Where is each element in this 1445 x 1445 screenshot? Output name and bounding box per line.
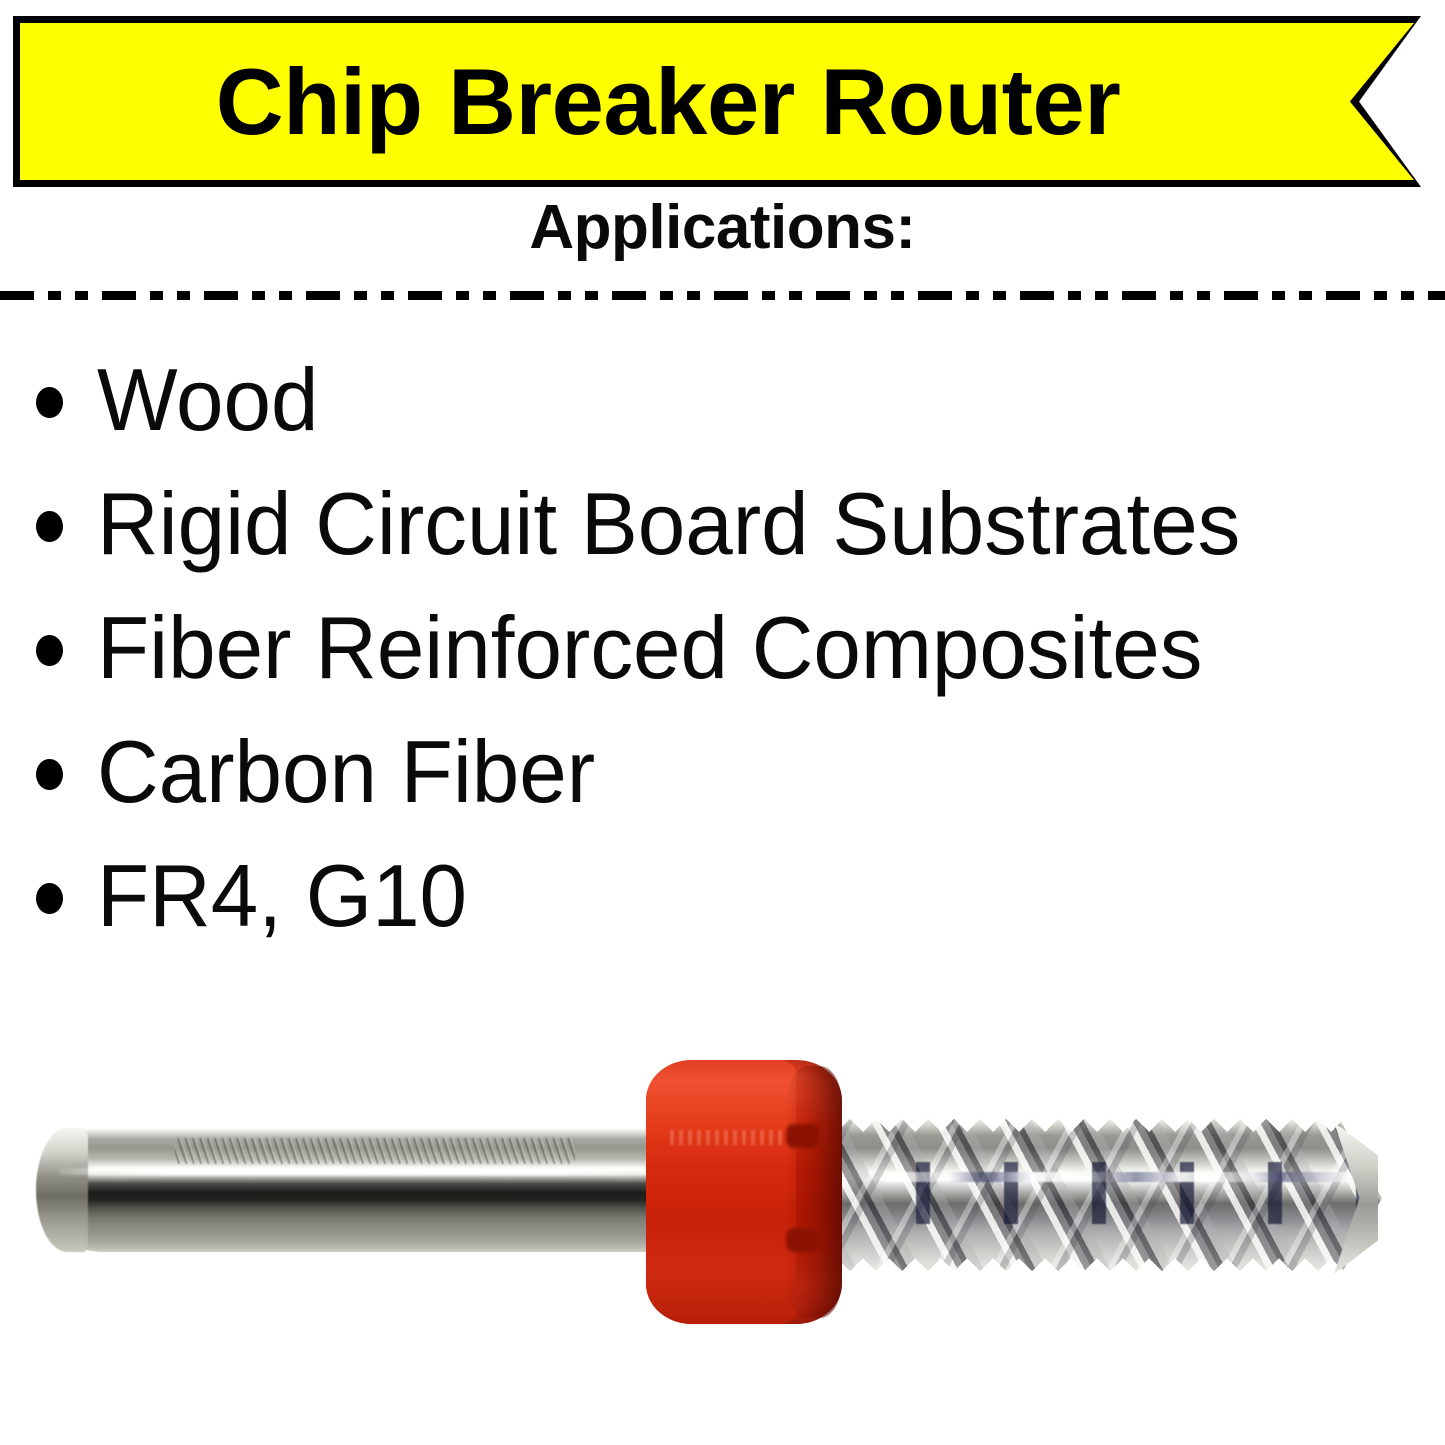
bullet-icon xyxy=(36,759,63,790)
bullet-icon xyxy=(36,387,63,418)
title-banner: Chip Breaker Router xyxy=(13,16,1421,187)
bullet-icon xyxy=(36,635,63,666)
banner-title-text: Chip Breaker Router xyxy=(13,16,1323,187)
red-collar-bore-top xyxy=(786,1124,820,1148)
bullet-icon xyxy=(36,511,63,542)
bit-cutting-head xyxy=(824,1116,1390,1278)
list-item: Fiber Reinforced Composites xyxy=(0,586,1445,710)
list-item-label: Wood xyxy=(97,356,318,444)
list-item-label: Rigid Circuit Board Substrates xyxy=(97,480,1240,568)
applications-heading: Applications: xyxy=(0,197,1445,259)
list-item-label: FR4, G10 xyxy=(97,852,467,940)
red-collar-shading xyxy=(786,1066,842,1318)
list-item: Rigid Circuit Board Substrates xyxy=(0,462,1445,586)
bit-shank-etching xyxy=(175,1138,575,1164)
flute-specular-highlight xyxy=(884,1172,1350,1182)
list-item: FR4, G10 xyxy=(0,834,1445,958)
dashed-divider xyxy=(0,291,1445,300)
red-collar-imprint xyxy=(668,1130,788,1145)
red-collar-front-face xyxy=(646,1060,796,1324)
flute-serration-top xyxy=(824,1110,1390,1132)
list-item: Wood xyxy=(0,338,1445,462)
list-item-label: Fiber Reinforced Composites xyxy=(97,604,1202,692)
list-item-label: Carbon Fiber xyxy=(97,728,595,816)
red-collar-bore-bottom xyxy=(786,1228,820,1252)
applications-list: Wood Rigid Circuit Board Substrates Fibe… xyxy=(0,338,1445,958)
flute-serration-bottom xyxy=(824,1258,1390,1282)
bit-shank-highlight xyxy=(60,1168,680,1175)
list-item: Carbon Fiber xyxy=(0,710,1445,834)
bullet-icon xyxy=(36,883,63,914)
